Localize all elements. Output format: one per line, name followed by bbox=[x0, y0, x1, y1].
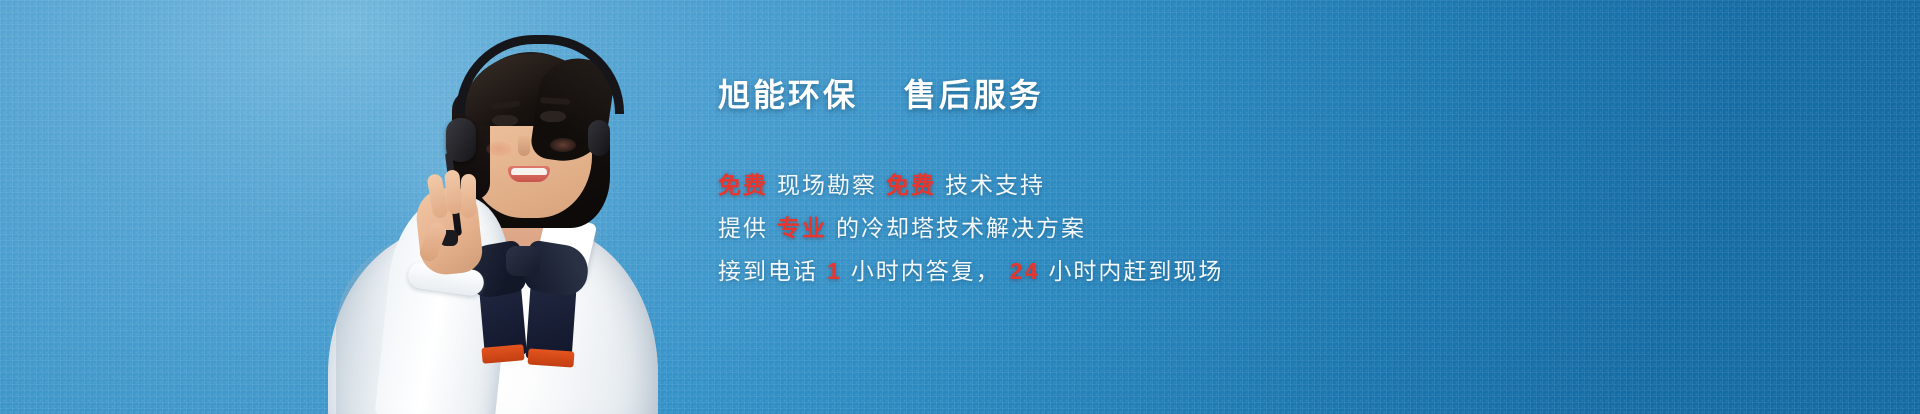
banner-copy: 旭能环保 售后服务 免费现场勘察免费技术支持 提供专业的冷却塔技术解决方案 接到… bbox=[718, 76, 1768, 293]
operator-teeth bbox=[511, 168, 547, 175]
service-banner: 旭能环保 售后服务 免费现场勘察免费技术支持 提供专业的冷却塔技术解决方案 接到… bbox=[0, 0, 1920, 414]
body-text: 接到电话 bbox=[718, 258, 818, 284]
body-text: 小时内答复， bbox=[851, 258, 1001, 284]
operator-eye-left bbox=[492, 115, 518, 126]
bowtie-orange-accent-right bbox=[527, 348, 574, 367]
operator-photo bbox=[300, 0, 680, 414]
highlighted-text: 免费 bbox=[718, 172, 768, 198]
body-text: 的冷却塔技术解决方案 bbox=[836, 215, 1086, 241]
bowtie-knot bbox=[506, 246, 540, 276]
line-free-survey-support: 免费现场勘察免费技术支持 bbox=[718, 164, 1768, 207]
banner-benefit-lines: 免费现场勘察免费技术支持 提供专业的冷却塔技术解决方案 接到电话1小时内答复，2… bbox=[718, 164, 1768, 293]
highlighted-text: 1 bbox=[827, 258, 842, 284]
body-text: 提供 bbox=[718, 215, 768, 241]
highlighted-text: 专业 bbox=[777, 215, 827, 241]
banner-headline: 旭能环保 售后服务 bbox=[718, 76, 1768, 114]
highlighted-text: 24 bbox=[1010, 258, 1040, 284]
operator-nose bbox=[518, 134, 530, 156]
highlighted-text: 免费 bbox=[886, 172, 936, 198]
body-text: 技术支持 bbox=[945, 172, 1045, 198]
headline-brand: 旭能环保 bbox=[718, 77, 858, 113]
operator-cheek-right bbox=[550, 138, 576, 152]
body-text: 小时内赶到现场 bbox=[1048, 258, 1223, 284]
line-professional-solution: 提供专业的冷却塔技术解决方案 bbox=[718, 207, 1768, 250]
operator-cheek-left bbox=[486, 142, 512, 156]
headline-service: 售后服务 bbox=[904, 77, 1044, 113]
line-response-time: 接到电话1小时内答复，24小时内赶到现场 bbox=[718, 250, 1768, 293]
body-text: 现场勘察 bbox=[777, 172, 877, 198]
headset-earcup-right bbox=[588, 120, 610, 156]
operator-finger bbox=[461, 174, 476, 218]
